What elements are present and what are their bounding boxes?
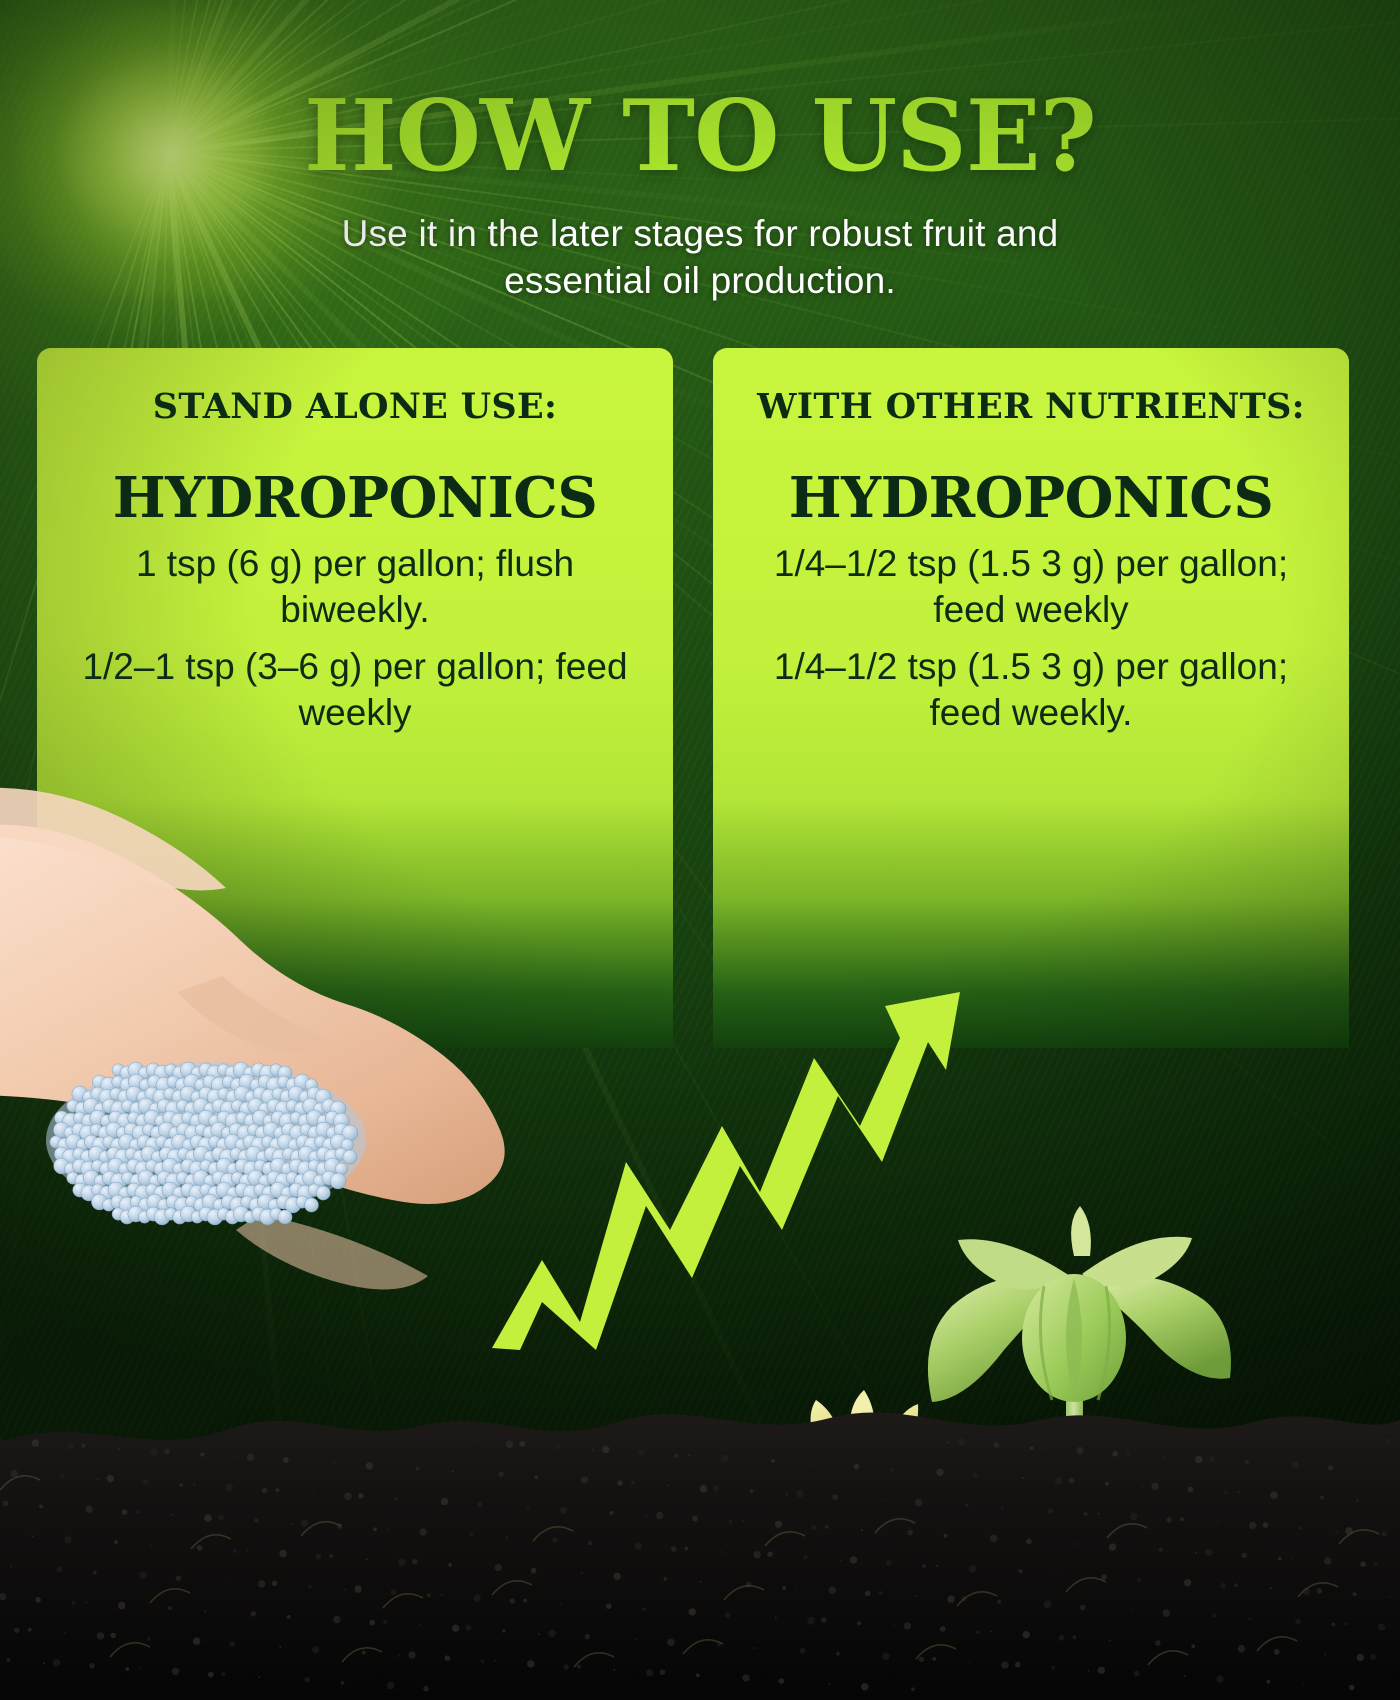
soil-surface [0,1412,1400,1700]
fertilizer-granules [46,1062,366,1225]
method-heading-soil: SOIL [739,406,1349,736]
finger-shape [236,1214,428,1290]
hand-holding-fertilizer-granules [0,770,520,1410]
header: HOW TO USE? Use it in the later stages f… [0,0,1400,305]
method-heading-soil: SOIL [63,406,673,736]
page-subtitle: Use it in the later stages for robust fr… [305,210,1095,305]
page-subtitle-text: Use it in the later stages for robust fr… [342,213,1059,301]
page-title: HOW TO USE? [0,0,1400,186]
poster-canvas: HOW TO USE? Use it in the later stages f… [0,0,1400,1700]
soil-bed [0,1370,1400,1700]
